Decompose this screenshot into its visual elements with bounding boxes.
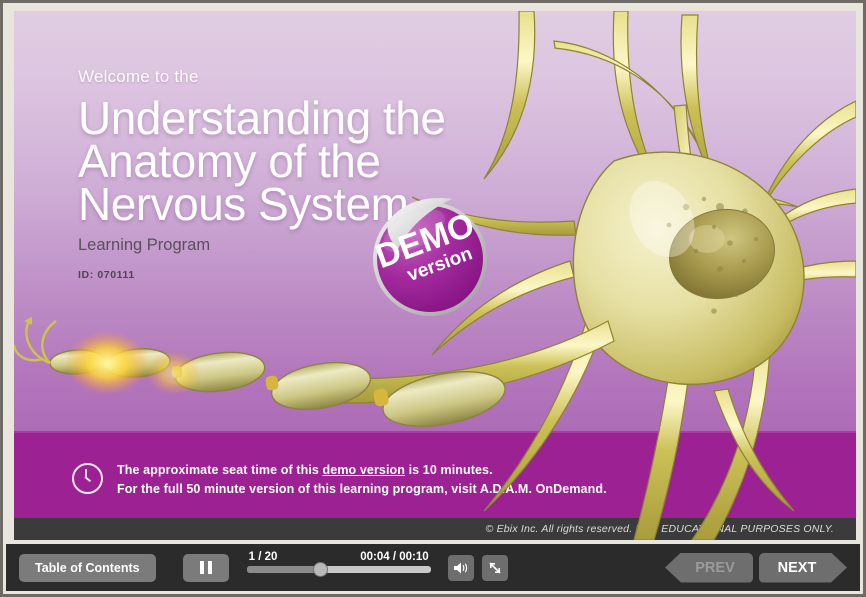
fullscreen-button[interactable] — [482, 555, 508, 581]
clock-icon — [72, 463, 103, 494]
progress-thumb[interactable] — [313, 562, 328, 577]
copyright-text: © Ebix Inc. All rights reserved. FOR EDU… — [486, 523, 856, 535]
seat-time-info-band: The approximate seat time of this demo v… — [14, 431, 856, 528]
player-window: Welcome to the Understanding the Anatomy… — [0, 0, 866, 597]
pause-icon-bar-right — [208, 561, 212, 574]
info-line1-post: is 10 minutes. — [409, 463, 493, 477]
pause-button[interactable] — [183, 554, 229, 582]
progress-scrubber[interactable]: 1 / 20 00:04 / 00:10 — [247, 551, 431, 585]
speaker-icon — [453, 561, 469, 575]
progress-track[interactable] — [247, 566, 431, 573]
copyright-bar: © Ebix Inc. All rights reserved. FOR EDU… — [14, 518, 856, 540]
progress-fill — [247, 566, 321, 573]
fullscreen-icon — [487, 560, 503, 576]
info-line2: For the full 50 minute version of this l… — [117, 480, 607, 499]
info-line1-pre: The approximate seat time of this — [117, 463, 319, 477]
volume-button[interactable] — [448, 555, 474, 581]
window-frame: Welcome to the Understanding the Anatomy… — [3, 3, 863, 594]
welcome-text: Welcome to the — [78, 67, 498, 87]
prev-button[interactable]: PREV — [665, 553, 753, 583]
demo-version-sticker: DEMO version — [356, 193, 504, 319]
table-of-contents-button[interactable]: Table of Contents — [19, 554, 156, 582]
seat-time-text: The approximate seat time of this demo v… — [117, 461, 607, 499]
slide-counter: 1 / 20 — [249, 551, 278, 563]
slide-stage: Welcome to the Understanding the Anatomy… — [14, 11, 856, 540]
pause-icon-bar-left — [200, 561, 204, 574]
time-display: 00:04 / 00:10 — [360, 551, 428, 563]
next-button[interactable]: NEXT — [759, 553, 847, 583]
player-control-bar: Table of Contents 1 / 20 00:04 / 00:10 — [6, 544, 860, 591]
info-line1-emphasis: demo version — [323, 463, 405, 477]
title-line-2: Anatomy of the — [78, 140, 498, 183]
title-line-1: Understanding the — [78, 97, 498, 140]
